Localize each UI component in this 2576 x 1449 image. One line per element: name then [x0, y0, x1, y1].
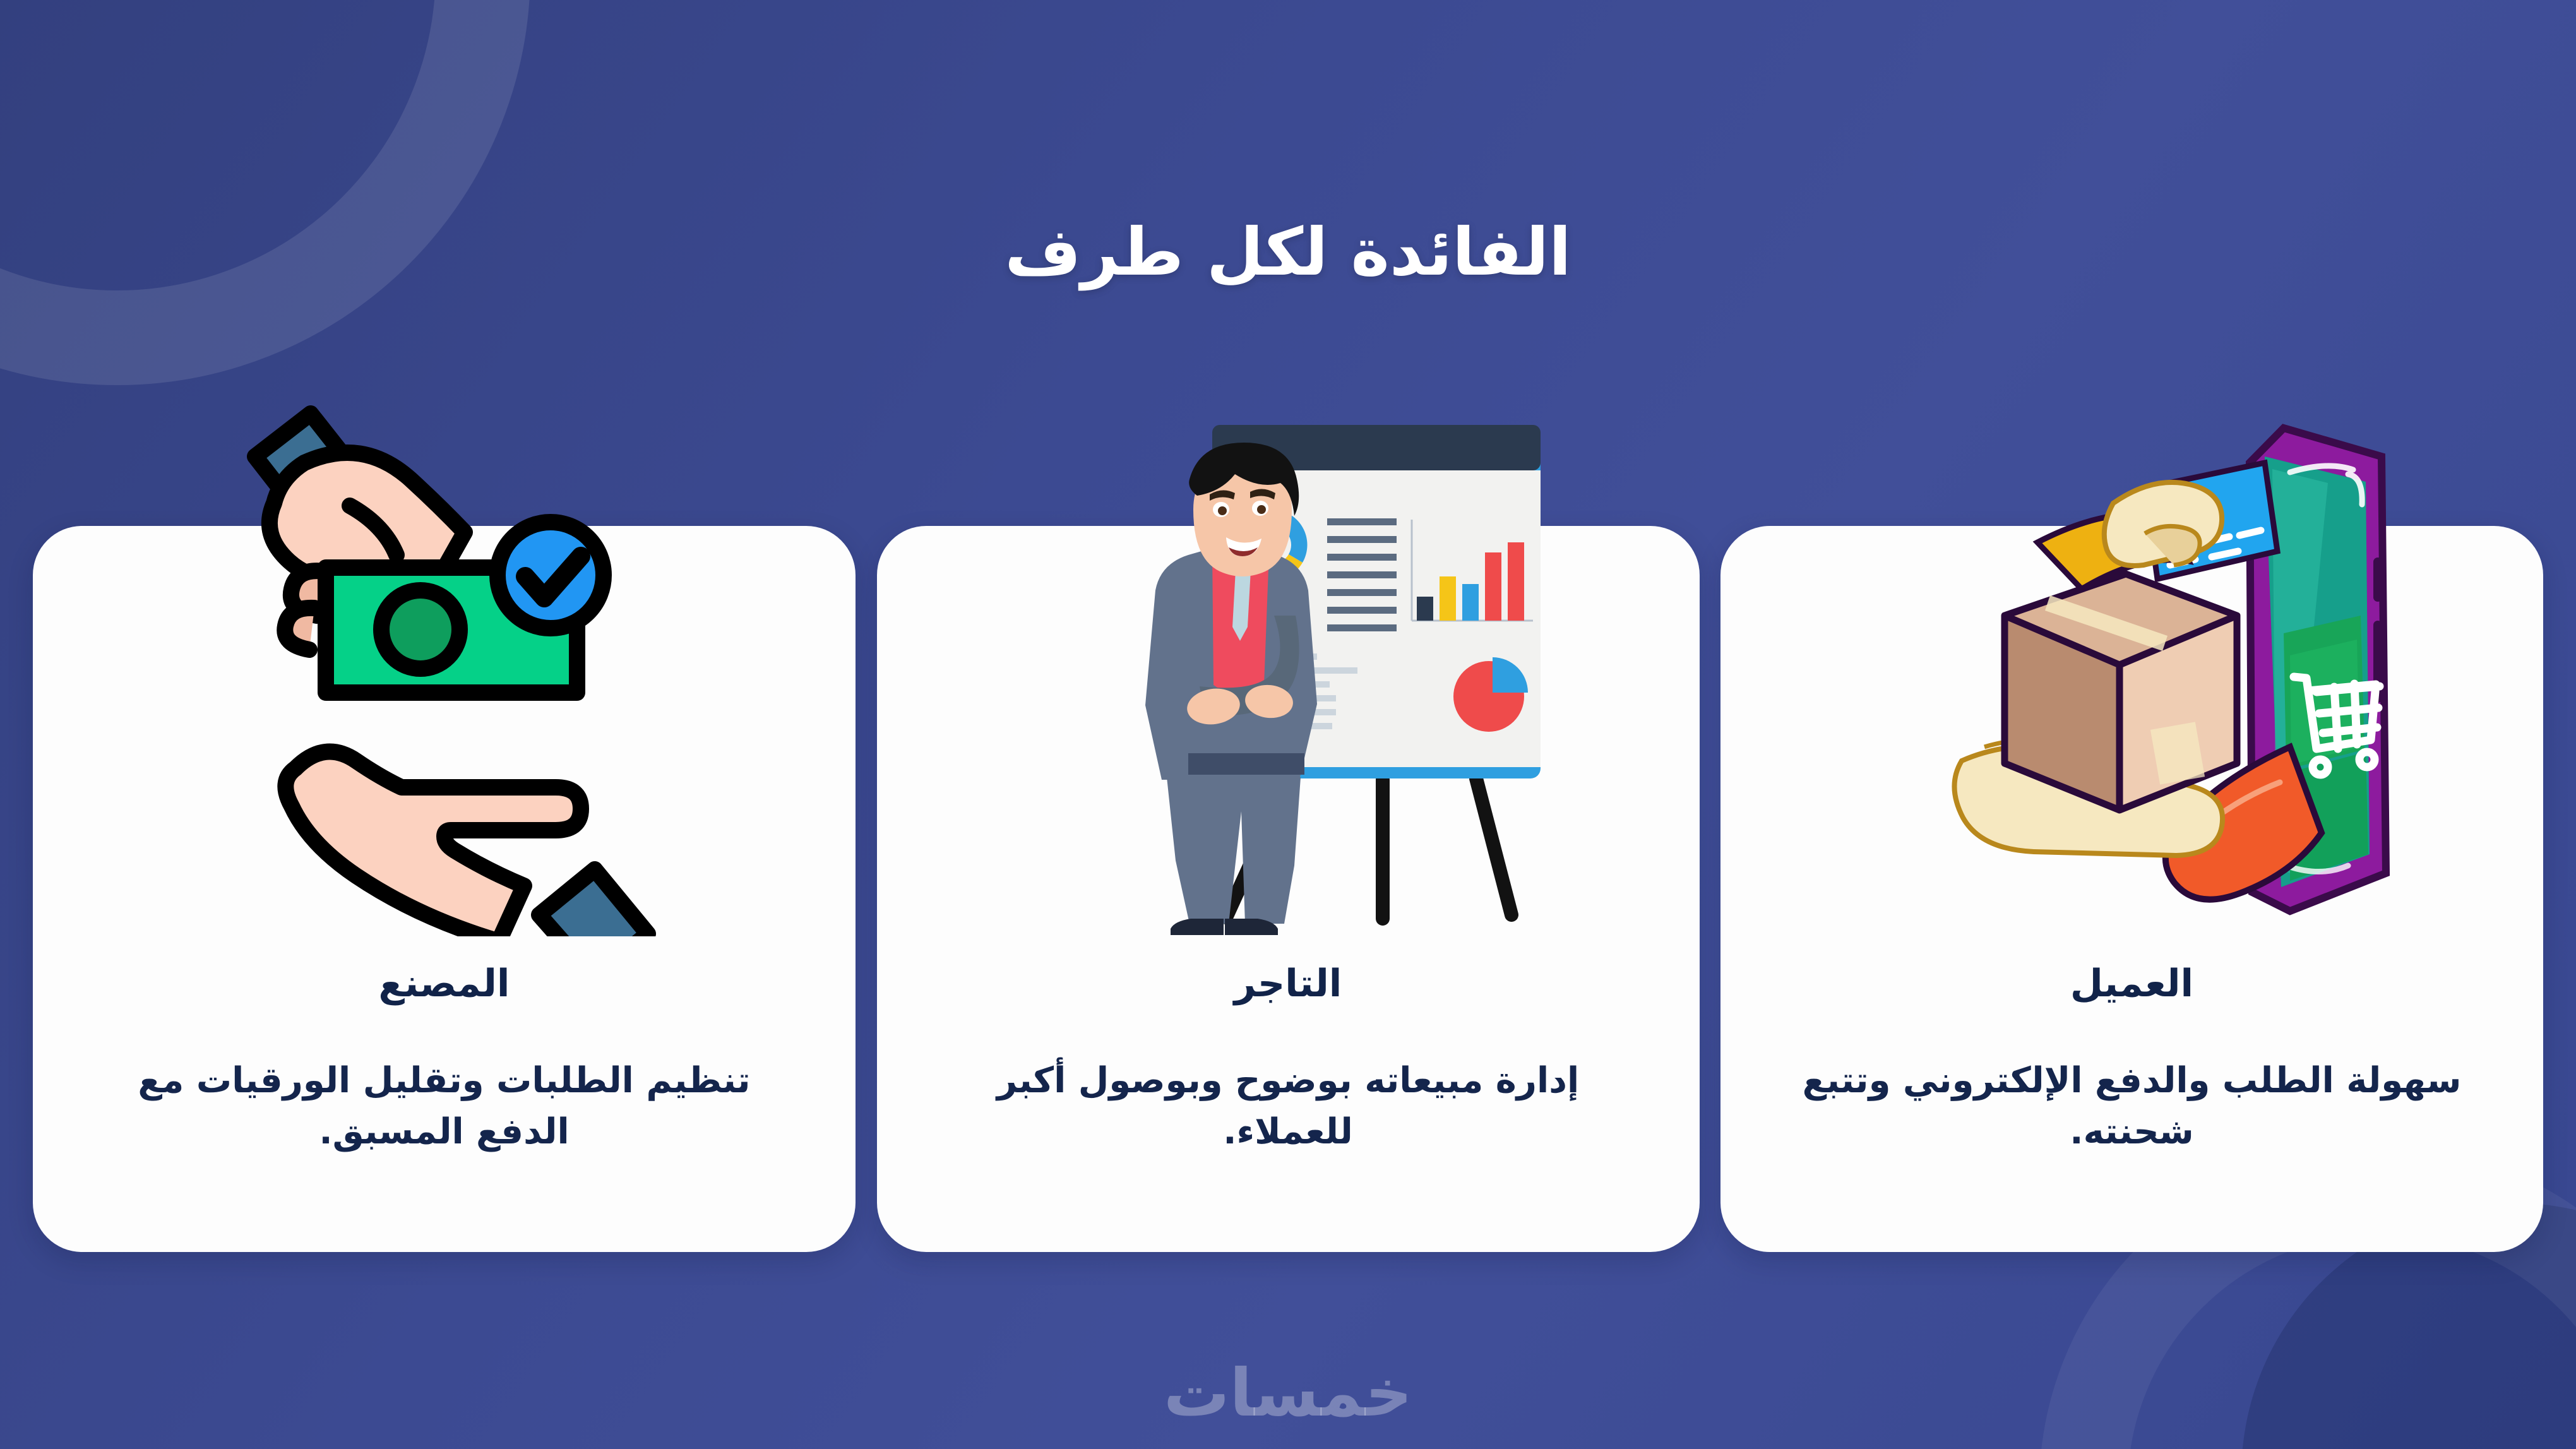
businessman-figure	[1145, 443, 1317, 935]
decorative-ring-top-left	[0, 0, 530, 385]
benefit-card-merchant[interactable]: التاجر إدارة مبيعاته بوضوح وبوصول أكبر ل…	[877, 526, 1700, 1252]
card-title-merchant: التاجر	[877, 962, 1700, 1006]
hand-receiving	[285, 752, 648, 936]
illustration-factory-svg	[160, 368, 729, 936]
card-body-merchant: إدارة مبيعاته بوضوح وبوصول أكبر للعملاء.	[934, 1055, 1643, 1157]
illustration-customer-svg	[1848, 368, 2416, 936]
card-body-customer: سهولة الطلب والدفع الإلكتروني وتتبع شحنت…	[1777, 1055, 2486, 1157]
benefit-card-factory[interactable]: المصنع تنظيم الطلبات وتقليل الورقيات مع …	[33, 526, 856, 1252]
brand-watermark: خمسات	[0, 1354, 2576, 1431]
cash-payment-handover-illustration	[33, 349, 856, 936]
card-title-factory: المصنع	[33, 962, 856, 1006]
verified-check-badge	[498, 522, 604, 628]
parcel-box	[2005, 574, 2237, 810]
card-body-factory: تنظيم الطلبات وتقليل الورقيات مع الدفع ا…	[90, 1055, 799, 1157]
benefit-card-customer[interactable]: العميل سهولة الطلب والدفع الإلكتروني وتت…	[1720, 526, 2543, 1252]
benefit-cards-row: العميل سهولة الطلب والدفع الإلكتروني وتت…	[33, 526, 2543, 1252]
card-title-customer: العميل	[1720, 962, 2543, 1006]
phone-shopping-delivery-illustration	[1720, 349, 2543, 936]
businessman-presentation-board-illustration	[877, 349, 1700, 936]
infographic-canvas: الفائدة لكل طرف	[0, 0, 2576, 1449]
page-title: الفائدة لكل طرف	[0, 213, 2576, 290]
illustration-merchant-svg	[1004, 368, 1572, 936]
